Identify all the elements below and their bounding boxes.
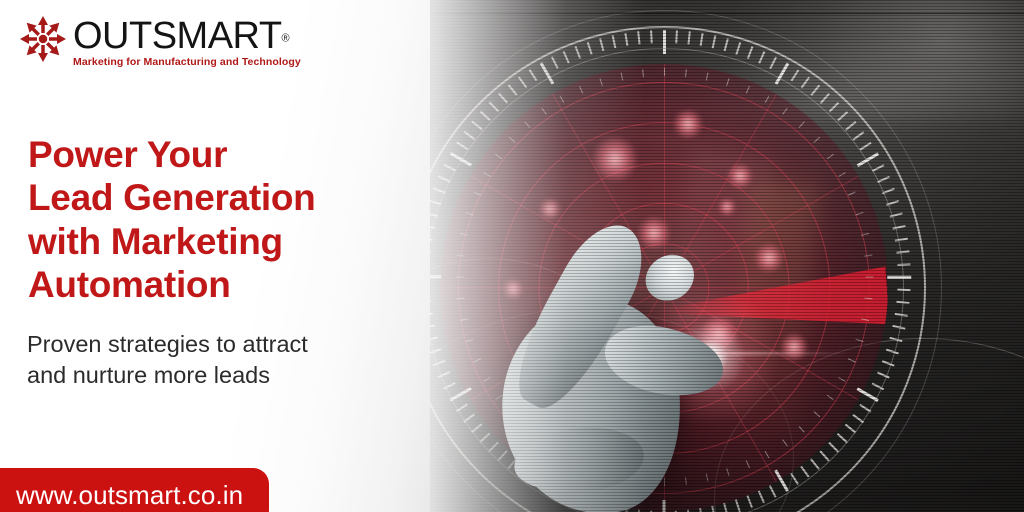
radar-tick	[736, 42, 741, 55]
radar-inner-tick	[621, 72, 624, 80]
radar-tick	[429, 200, 442, 205]
radar-inner-tick	[864, 255, 872, 257]
radar-inner-tick	[599, 78, 602, 86]
radar-tick	[898, 263, 911, 265]
radar-inner-tick	[782, 108, 788, 115]
radar-inner-tick	[856, 212, 864, 215]
radar-inner-tick	[726, 78, 729, 86]
radar-inner-tick	[473, 192, 481, 196]
radar-inner-tick	[861, 233, 869, 236]
radar-tick	[886, 349, 899, 354]
radar-tick	[898, 288, 911, 290]
hero-image	[344, 0, 1024, 512]
hand-fingertip	[637, 246, 703, 310]
radar-inner-tick	[861, 318, 869, 321]
radar-tick	[897, 301, 910, 304]
radar-tick	[758, 51, 765, 63]
radar-inner-tick	[466, 212, 474, 215]
radar-tick	[747, 46, 753, 59]
radar-tick	[895, 238, 908, 242]
hero-top-divider-line	[344, 13, 1024, 14]
page-title: Power YourLead Generationwith MarketingA…	[28, 133, 408, 306]
radar-tick	[625, 33, 629, 46]
logo-tagline: Marketing for Manufacturing and Technolo…	[73, 56, 301, 68]
radar-tick	[650, 30, 652, 43]
radar-tick	[551, 57, 558, 69]
radar-tick	[675, 30, 677, 43]
radar-tick	[890, 212, 903, 217]
radar-tick	[429, 349, 442, 354]
radar-inner-tick	[848, 358, 856, 362]
headline-line-4: Automation	[28, 263, 408, 306]
radar-inner-tick	[827, 395, 834, 401]
radar-tick	[888, 276, 912, 279]
radar-tick	[886, 200, 899, 205]
brand-logo[interactable]: OUTSMART® Marketing for Manufacturing an…	[18, 14, 301, 68]
pointing-hand	[492, 210, 822, 512]
radar-inner-tick	[838, 172, 845, 177]
radar-tick	[612, 35, 616, 48]
radar-inner-tick	[814, 137, 821, 143]
headline-line-1: Power Your	[28, 133, 408, 176]
radar-inner-tick	[457, 255, 465, 257]
radar-tick	[724, 38, 729, 51]
radar-inner-tick	[706, 72, 709, 80]
radar-inner-tick	[866, 277, 874, 278]
radar-inner-tick	[460, 233, 468, 236]
radar-tick	[712, 35, 716, 48]
radar-inner-tick	[864, 298, 872, 300]
registered-trademark-icon: ®	[282, 33, 290, 45]
radar-inner-tick	[856, 339, 864, 342]
radar-tick	[893, 225, 906, 229]
logo-wordmark: OUTSMART	[73, 17, 282, 55]
radar-inner-tick	[524, 121, 530, 128]
radar-inner-tick	[642, 69, 644, 77]
marketing-banner: OUTSMART® Marketing for Manufacturing an…	[0, 0, 1024, 512]
radar-inner-tick	[457, 298, 465, 300]
radar-inner-tick	[799, 121, 805, 128]
logo-text-block: OUTSMART® Marketing for Manufacturing an…	[73, 14, 301, 68]
radar-tick	[893, 325, 906, 329]
radar-tick	[882, 188, 895, 194]
radar-inner-tick	[848, 192, 856, 196]
subheading-line-1: Proven strategies to attract	[27, 329, 387, 360]
radar-tick	[882, 360, 895, 366]
headline-line-3: with Marketing	[28, 220, 408, 263]
radar-inner-tick	[460, 318, 468, 321]
radar-tick	[563, 51, 570, 63]
radar-tick	[895, 313, 908, 317]
radar-inner-tick	[456, 277, 464, 278]
radar-inner-tick	[560, 96, 565, 103]
radar-inner-tick	[746, 86, 750, 94]
radar-tick	[688, 31, 691, 44]
website-url-button[interactable]: www.outsmart.co.in	[0, 468, 269, 512]
subheading-line-2: and nurture more leads	[27, 360, 387, 391]
radar-inner-tick	[579, 86, 583, 94]
radar-tick	[637, 31, 640, 44]
radar-inner-tick	[838, 377, 845, 382]
eight-arrow-burst-icon	[18, 14, 68, 64]
logo-wordmark-row: OUTSMART®	[73, 17, 301, 55]
radar-inner-tick	[483, 172, 490, 177]
radar-inner-tick	[664, 68, 665, 76]
headline-line-2: Lead Generation	[28, 176, 408, 219]
radar-tick	[587, 42, 592, 55]
radar-inner-tick	[827, 154, 834, 160]
radar-inner-tick	[509, 137, 516, 143]
radar-inner-tick	[765, 96, 770, 103]
radar-tick	[897, 250, 910, 253]
radar-tick	[663, 30, 666, 54]
radar-tick	[599, 38, 604, 51]
radar-tick	[575, 46, 581, 59]
radar-inner-tick	[466, 339, 474, 342]
subheading: Proven strategies to attractand nurture …	[27, 329, 387, 392]
radar-tick	[770, 57, 777, 69]
radar-inner-tick	[685, 69, 687, 77]
radar-inner-tick	[495, 154, 502, 160]
radar-tick	[890, 337, 903, 342]
radar-tick	[700, 33, 704, 46]
radar-inner-tick	[541, 108, 547, 115]
